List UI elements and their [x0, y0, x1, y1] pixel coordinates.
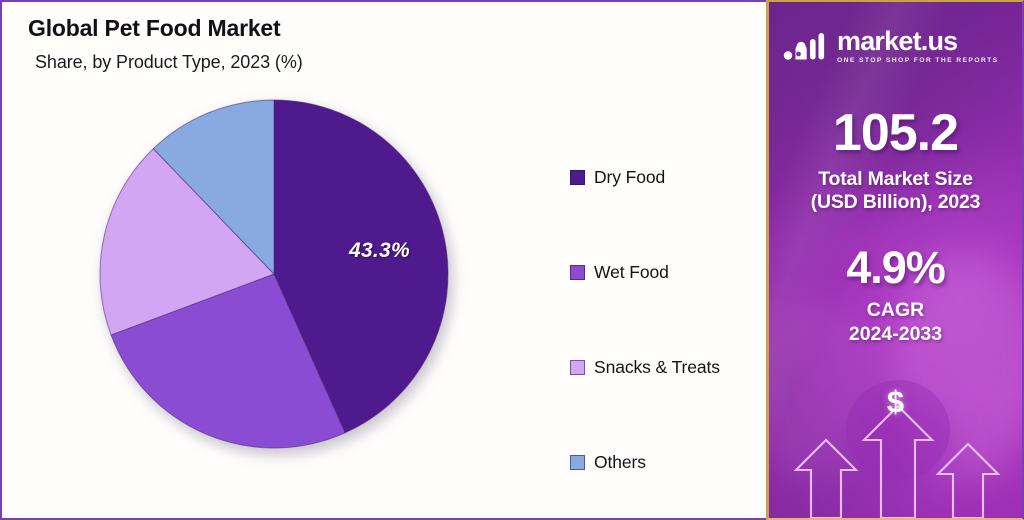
page-subtitle: Share, by Product Type, 2023 (%) [35, 51, 303, 74]
market-size-caption-line-1: Total Market Size [769, 168, 1022, 191]
infographic-root: Global Pet Food Market Share, by Product… [0, 0, 1024, 520]
market-size-stat: 105.2 Total Market Size (USD Billion), 2… [769, 107, 1022, 215]
legend-label-snacks-treats: Snacks & Treats [594, 357, 720, 378]
cagr-period: 2024-2033 [769, 322, 1022, 346]
chart-titles: Global Pet Food Market Share, by Product… [28, 14, 303, 73]
market-size-caption-line-2: (USD Billion), 2023 [769, 191, 1022, 214]
legend-swatch-snacks-treats [570, 360, 585, 375]
cagr-caption: CAGR 2024-2033 [769, 298, 1022, 347]
market-us-logo-icon [783, 30, 829, 62]
cagr-label: CAGR [769, 298, 1022, 322]
arrow-up-right [938, 444, 998, 518]
legend-item-dry-food[interactable]: Dry Food [570, 130, 760, 225]
chart-panel: Global Pet Food Market Share, by Product… [0, 0, 766, 520]
legend: Dry Food Wet Food Snacks & Treats Others [570, 130, 760, 510]
brand-name: market.us [837, 28, 999, 55]
dollar-sign-icon: $ [769, 384, 1022, 420]
pie-slice-label-dry-food: 43.3% [349, 239, 410, 263]
legend-label-others: Others [594, 452, 646, 473]
brand-logo-text: market.us ONE STOP SHOP FOR THE REPORTS [837, 28, 999, 65]
legend-item-snacks-treats[interactable]: Snacks & Treats [570, 320, 760, 415]
brand-tagline: ONE STOP SHOP FOR THE REPORTS [837, 58, 999, 65]
legend-swatch-dry-food [570, 170, 585, 185]
growth-arrows-graphic: $ [769, 378, 1022, 518]
pie-chart: 43.3% [99, 99, 449, 449]
legend-swatch-wet-food [570, 265, 585, 280]
brand-logo[interactable]: market.us ONE STOP SHOP FOR THE REPORTS [783, 30, 1022, 65]
market-size-value: 105.2 [769, 107, 1022, 159]
legend-item-others[interactable]: Others [570, 415, 760, 510]
cagr-value: 4.9% [769, 245, 1022, 290]
legend-label-wet-food: Wet Food [594, 262, 669, 283]
brand-panel: market.us ONE STOP SHOP FOR THE REPORTS … [766, 0, 1024, 520]
legend-item-wet-food[interactable]: Wet Food [570, 225, 760, 320]
arrow-up-left [796, 440, 856, 518]
cagr-stat: 4.9% CAGR 2024-2033 [769, 245, 1022, 347]
legend-label-dry-food: Dry Food [594, 167, 665, 188]
legend-swatch-others [570, 455, 585, 470]
page-title: Global Pet Food Market [28, 14, 303, 43]
market-size-caption: Total Market Size (USD Billion), 2023 [769, 168, 1022, 215]
pie-chart-svg [99, 99, 449, 449]
